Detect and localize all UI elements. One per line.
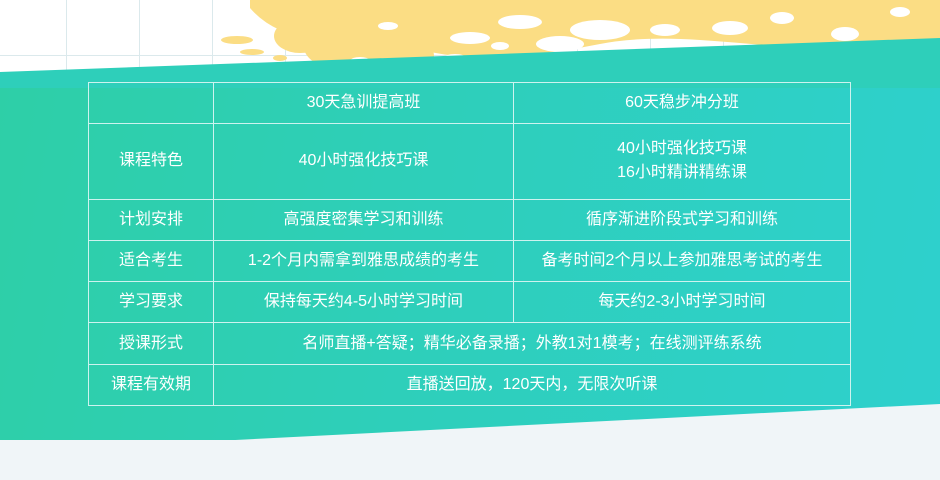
row-label-validity-period: 课程有效期 (89, 364, 214, 405)
top-decoration-band (0, 0, 940, 92)
cell-plan-b-target-students: 备考时间2个月以上参加雅思考试的考生 (514, 240, 851, 281)
table-row: 课程特色 40小时强化技巧课 40小时强化技巧课 16小时精讲精练课 (89, 124, 851, 199)
cell-plan-b-schedule: 循序渐进阶段式学习和训练 (514, 199, 851, 240)
table-row: 授课形式 名师直播+答疑；精华必备录播；外教1对1模考；在线测评练系统 (89, 323, 851, 364)
cell-teaching-format: 名师直播+答疑；精华必备录播；外教1对1模考；在线测评练系统 (214, 323, 851, 364)
table-row: 课程有效期 直播送回放，120天内，无限次听课 (89, 364, 851, 405)
row-label-study-requirement: 学习要求 (89, 282, 214, 323)
course-comparison-table: 30天急训提高班 60天稳步冲分班 课程特色 40小时强化技巧课 40小时强化技… (88, 82, 850, 406)
row-label-target-students: 适合考生 (89, 240, 214, 281)
header-plan-b: 60天稳步冲分班 (514, 83, 851, 124)
teal-top-wedge (0, 0, 940, 92)
cell-plan-a-course-features: 40小时强化技巧课 (214, 124, 514, 199)
table-row: 适合考生 1-2个月内需拿到雅思成绩的考生 备考时间2个月以上参加雅思考试的考生 (89, 240, 851, 281)
table-row: 计划安排 高强度密集学习和训练 循序渐进阶段式学习和训练 (89, 199, 851, 240)
header-corner-cell (89, 83, 214, 124)
table-row-header: 30天急训提高班 60天稳步冲分班 (89, 83, 851, 124)
row-label-teaching-format: 授课形式 (89, 323, 214, 364)
table-row: 学习要求 保持每天约4-5小时学习时间 每天约2-3小时学习时间 (89, 282, 851, 323)
page-root: 30天急训提高班 60天稳步冲分班 课程特色 40小时强化技巧课 40小时强化技… (0, 0, 940, 480)
cell-plan-b-course-features-line1: 40小时强化技巧课 (520, 137, 844, 161)
cell-validity-period: 直播送回放，120天内，无限次听课 (214, 364, 851, 405)
row-label-schedule: 计划安排 (89, 199, 214, 240)
cell-plan-b-course-features-line2: 16小时精讲精练课 (520, 161, 844, 185)
header-plan-a: 30天急训提高班 (214, 83, 514, 124)
row-label-course-features: 课程特色 (89, 124, 214, 199)
cell-plan-a-study-requirement: 保持每天约4-5小时学习时间 (214, 282, 514, 323)
cell-plan-a-target-students: 1-2个月内需拿到雅思成绩的考生 (214, 240, 514, 281)
cell-plan-a-schedule: 高强度密集学习和训练 (214, 199, 514, 240)
cell-plan-b-study-requirement: 每天约2-3小时学习时间 (514, 282, 851, 323)
cell-plan-b-course-features: 40小时强化技巧课 16小时精讲精练课 (514, 124, 851, 199)
